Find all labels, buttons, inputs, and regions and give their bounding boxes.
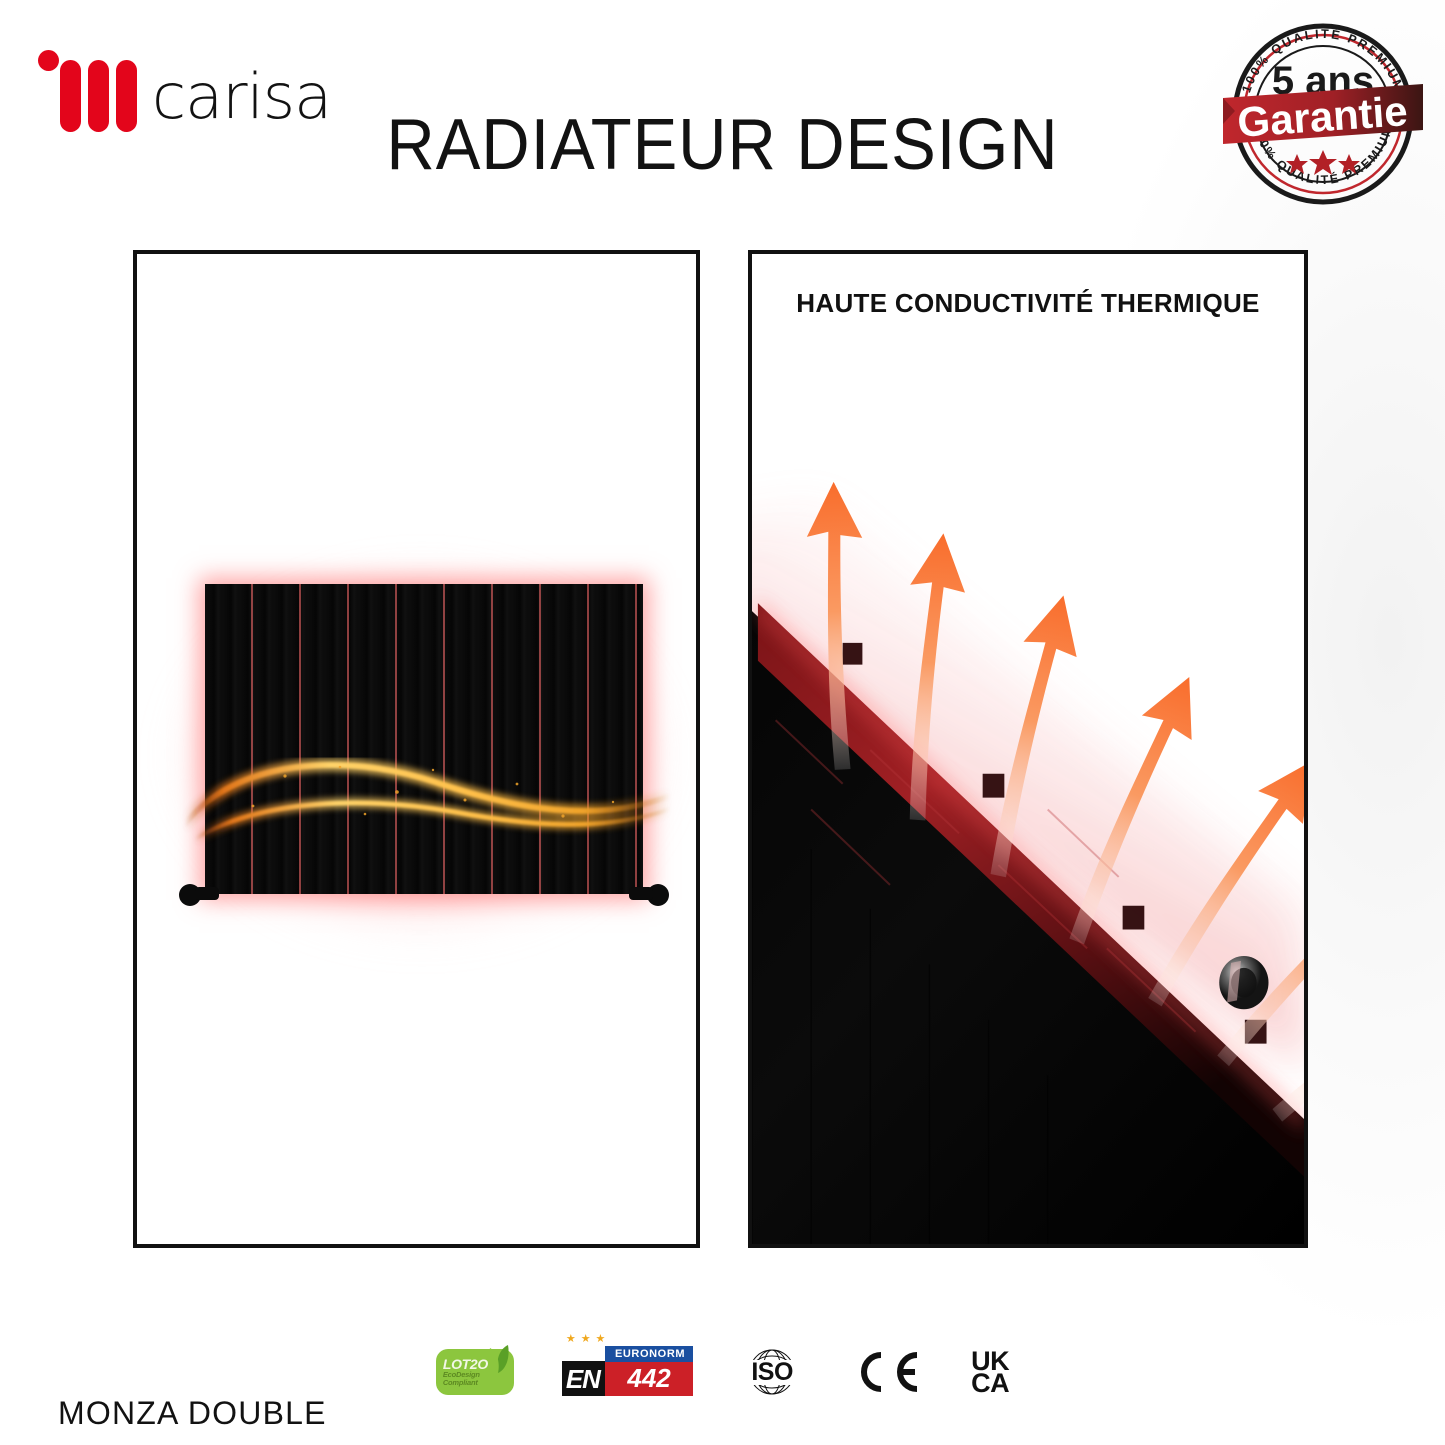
cert-lot20: LOT2O EcoDesign Compliant [436, 1349, 514, 1395]
badge-ribbon: Garantie [1223, 84, 1423, 146]
euronorm-stars-icon: ★★★ [566, 1332, 611, 1345]
logo-dot-icon [38, 50, 59, 71]
iso-label: ISO [749, 1360, 795, 1385]
cert-ce [851, 1349, 923, 1395]
guarantee-badge: 100% QUALITÉ PREMIUM 100% QUALITÉ PREMIU… [1223, 14, 1423, 214]
radiator-valve-left [179, 880, 215, 906]
cert-iso: ISO [741, 1349, 803, 1395]
page-title: RADIATEUR DESIGN [51, 104, 1395, 186]
en442-en-text: EN [562, 1361, 605, 1396]
panel-heading: HAUTE CONDUCTIVITÉ THERMIQUE [752, 288, 1304, 319]
ukca-line2: CA [971, 1372, 1009, 1394]
thermal-conductivity-panel: HAUTE CONDUCTIVITÉ THERMIQUE [748, 250, 1308, 1248]
radiator-panel-seams [205, 584, 643, 894]
cert-en442: ★★★ EN EURONORM 442 [562, 1348, 693, 1396]
lot20-line3: Compliant [443, 1379, 514, 1387]
en442-number-text: 442 [605, 1362, 693, 1396]
radiator-angled-view [752, 254, 1304, 1244]
ce-mark-icon [851, 1349, 923, 1395]
radiator-valve-right [633, 880, 669, 906]
product-photo-panel [133, 250, 700, 1248]
leaf-icon [486, 1344, 510, 1374]
radiator-front-view [205, 584, 643, 894]
product-name: MONZA DOUBLE [58, 1395, 327, 1432]
certification-row: LOT2O EcoDesign Compliant ★★★ EN EURONOR… [0, 1348, 1445, 1396]
cert-ukca: UK CA [971, 1350, 1009, 1394]
radiator-end-cap [1219, 956, 1268, 1009]
en442-euronorm-text: EURONORM [605, 1346, 693, 1362]
page-background: carisa RADIATEUR DESIGN 100% QUALITÉ PRE… [0, 0, 1445, 1445]
